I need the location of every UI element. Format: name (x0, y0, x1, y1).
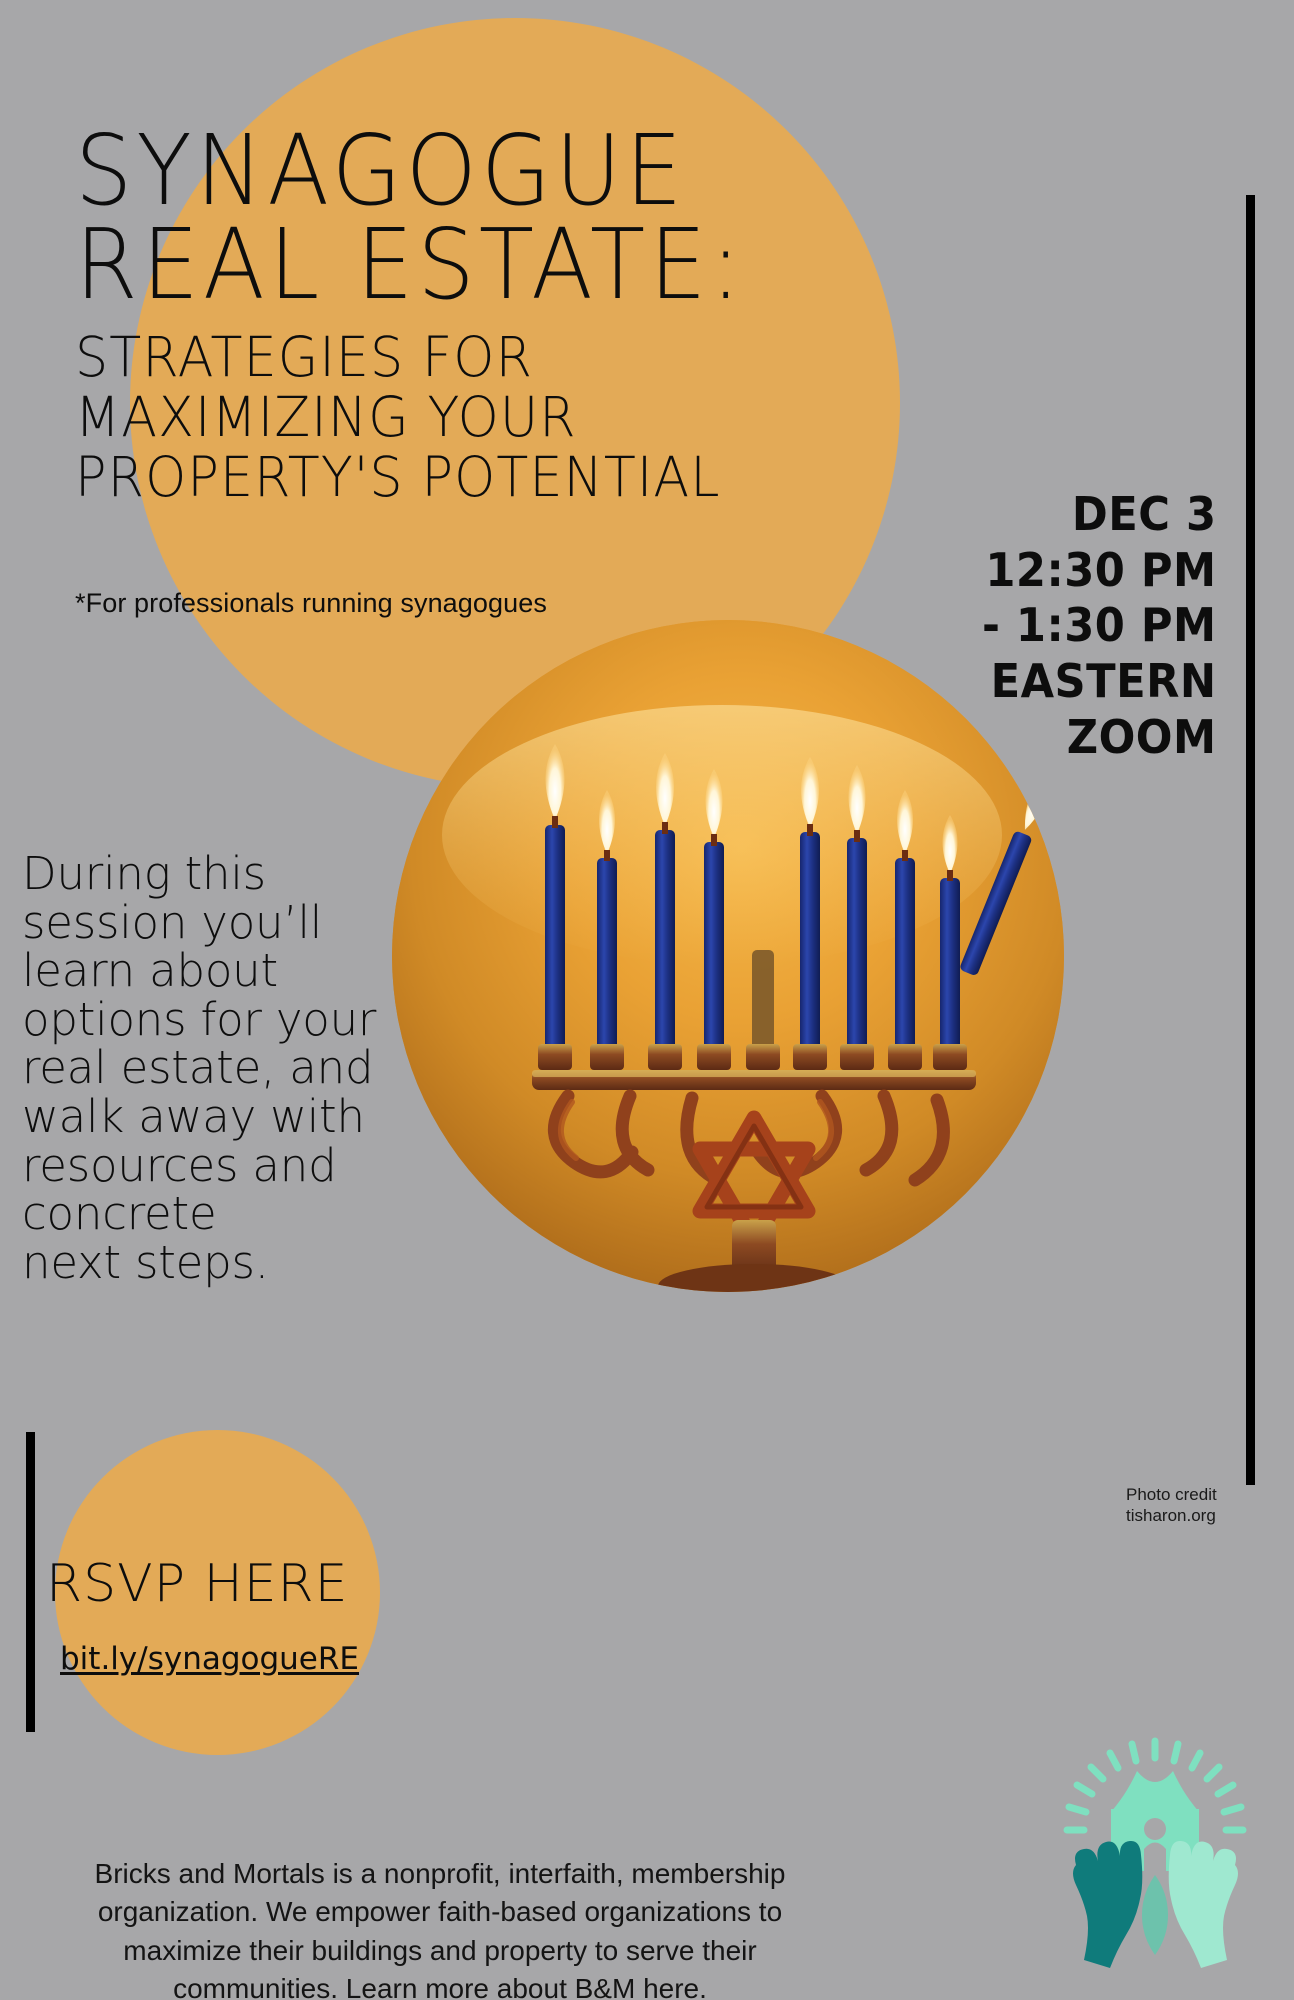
subtitle-line-3: PROPERTY'S POTENTIAL (75, 448, 1025, 508)
description-line: resources and (22, 1142, 412, 1191)
footer-text-end: . (699, 1973, 707, 2000)
photo-credit-source: tisharon.org (1126, 1505, 1217, 1526)
poster-canvas: SYNAGOGUE REAL ESTATE: STRATEGIES FOR MA… (0, 0, 1294, 2000)
photo-credit-label: Photo credit (1126, 1484, 1217, 1505)
event-start-time: 12:30 PM (982, 543, 1217, 599)
description-line: next steps. (22, 1239, 412, 1288)
event-platform: ZOOM (982, 710, 1217, 766)
vertical-rule-right (1246, 195, 1255, 1485)
menorah-photo (392, 620, 1064, 1292)
rsvp-heading: RSVP HERE (46, 1554, 349, 1614)
page-title: SYNAGOGUE REAL ESTATE: STRATEGIES FOR MA… (75, 124, 1075, 508)
vertical-rule-left (26, 1432, 35, 1732)
title-line-1: SYNAGOGUE (75, 124, 1005, 218)
session-description: During this session you’ll learn about o… (22, 850, 412, 1287)
event-details: DEC 3 12:30 PM - 1:30 PM EASTERN ZOOM (982, 487, 1217, 765)
event-end-time: - 1:30 PM (982, 598, 1217, 654)
event-date: DEC 3 (982, 487, 1217, 543)
footer-about: Bricks and Mortals is a nonprofit, inter… (60, 1855, 820, 2000)
event-timezone: EASTERN (982, 654, 1217, 710)
title-line-2: REAL ESTATE: (75, 218, 1005, 312)
bricks-and-mortals-logo (1048, 1725, 1263, 1980)
subtitle-line-1: STRATEGIES FOR (75, 328, 1025, 388)
description-line: real estate, and (22, 1044, 412, 1093)
footer-link-label: here (643, 1973, 699, 2000)
description-line: learn about (22, 947, 412, 996)
photo-credit: Photo credit tisharon.org (1126, 1484, 1217, 1527)
subtitle-line-2: MAXIMIZING YOUR (75, 388, 1025, 448)
description-line: walk away with (22, 1093, 412, 1142)
subtitle: STRATEGIES FOR MAXIMIZING YOUR PROPERTY'… (75, 328, 1075, 508)
description-line: options for your (22, 996, 412, 1045)
description-line: During this (22, 850, 412, 899)
description-line: concrete (22, 1190, 412, 1239)
description-line: session you’ll (22, 899, 412, 948)
footer-learn-more-link[interactable]: here (643, 1973, 699, 2000)
audience-note: *For professionals running synagogues (75, 588, 547, 619)
rsvp-link[interactable]: bit.ly/synagogueRE (60, 1641, 359, 1677)
